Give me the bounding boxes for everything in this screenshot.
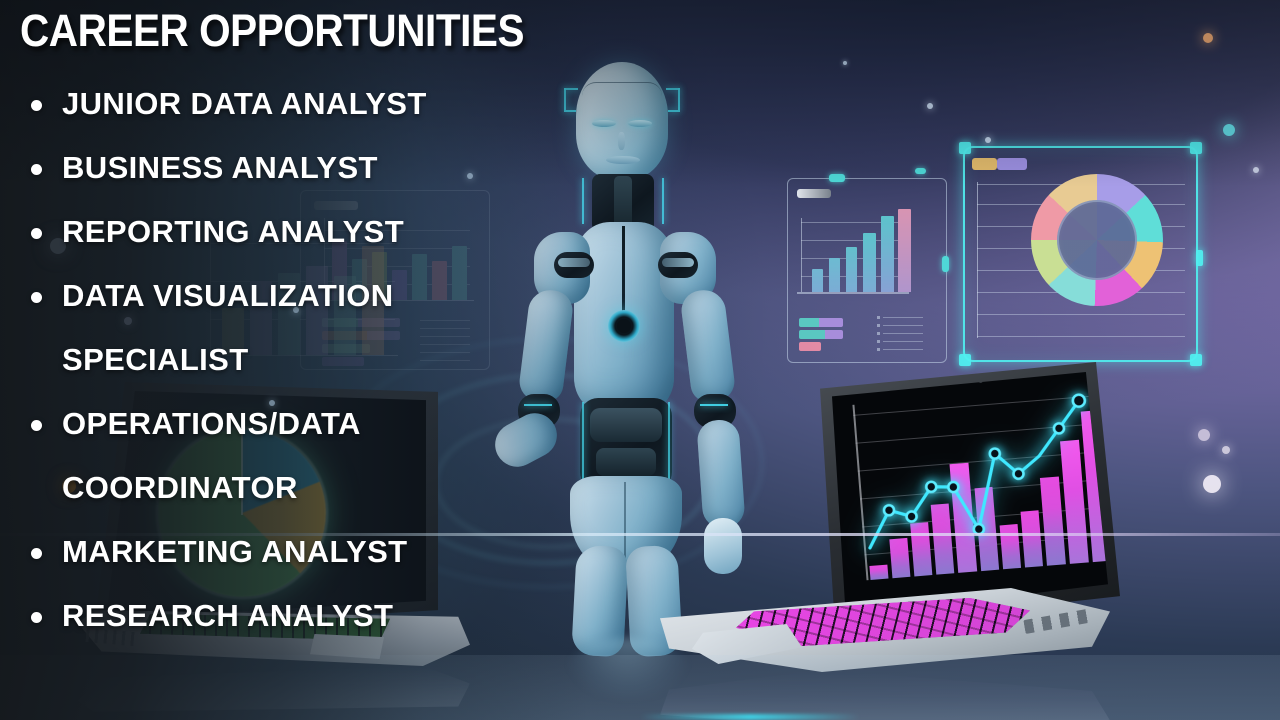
bokeh-particle [1253, 167, 1259, 173]
laptop-right-bar-line-chart [838, 379, 1108, 600]
gridline [977, 314, 1185, 315]
robot-abdomen-plate [590, 408, 662, 442]
robot-hip-seam [624, 482, 626, 560]
career-list-item: REPORTING ANALYST [22, 200, 502, 264]
bokeh-particle [1222, 446, 1230, 454]
bokeh-particle [843, 61, 847, 65]
axis-y [977, 182, 978, 338]
legend-segment [819, 318, 843, 327]
laptop-right-screen [832, 372, 1108, 616]
hologram-legend-row [799, 342, 821, 351]
legend-segment [825, 330, 843, 339]
hologram-panel-bar-chart [787, 178, 947, 363]
bokeh-particle [1203, 33, 1213, 43]
career-list-item: RESEARCH ANALYST [22, 584, 502, 648]
hologram-corner-marker [1190, 354, 1202, 366]
hologram-legend-row [799, 330, 843, 339]
laptop-right-reflection [660, 670, 1110, 720]
hologram-label-chip [797, 189, 831, 198]
hologram-bar-chart [803, 202, 909, 292]
robot-shoulder-piston-right [662, 258, 694, 267]
laptop-right [700, 362, 1120, 692]
bar [863, 233, 876, 292]
hologram-donut-chart [1031, 174, 1163, 306]
robot-abdomen-glow [668, 402, 670, 482]
laptop-right-trend-line [854, 385, 1108, 580]
gridline [977, 336, 1185, 337]
bokeh-particle [1198, 429, 1210, 441]
hologram-legend-row [799, 318, 843, 327]
bokeh-particle [1223, 124, 1235, 136]
career-opportunities-slide: CAREER OPPORTUNITIES JUNIOR DATA ANALYST… [0, 0, 1280, 720]
hologram-side-marker [1196, 250, 1203, 266]
page-title: CAREER OPPORTUNITIES [20, 8, 524, 53]
donut-hole [1057, 200, 1137, 280]
robot-abdomen-plate [596, 448, 656, 476]
legend-segment [799, 330, 825, 339]
desk-cyan-strip [640, 714, 860, 720]
career-list-item: OPERATIONS/DATA COORDINATOR [22, 392, 502, 520]
bar [881, 216, 894, 292]
bokeh-particle [927, 103, 933, 109]
axis-y [801, 218, 802, 292]
axis-x [797, 292, 909, 294]
bar [846, 247, 857, 292]
robot-chest-seam [622, 226, 625, 318]
career-list-item: BUSINESS ANALYST [22, 136, 502, 200]
career-list-item: JUNIOR DATA ANALYST [22, 72, 502, 136]
hologram-connector-chip [942, 256, 949, 272]
bar [898, 209, 911, 292]
career-list: JUNIOR DATA ANALYSTBUSINESS ANALYSTREPOR… [22, 72, 502, 648]
bokeh-particle [985, 137, 991, 143]
career-list-item: MARKETING ANALYST [22, 520, 502, 584]
bar [829, 258, 840, 292]
career-list-item: DATA VISUALIZATION SPECIALIST [22, 264, 502, 392]
legend-segment [799, 318, 819, 327]
robot-chest-core-inner [617, 319, 631, 333]
bar [812, 269, 823, 292]
bokeh-particle [1203, 475, 1221, 493]
